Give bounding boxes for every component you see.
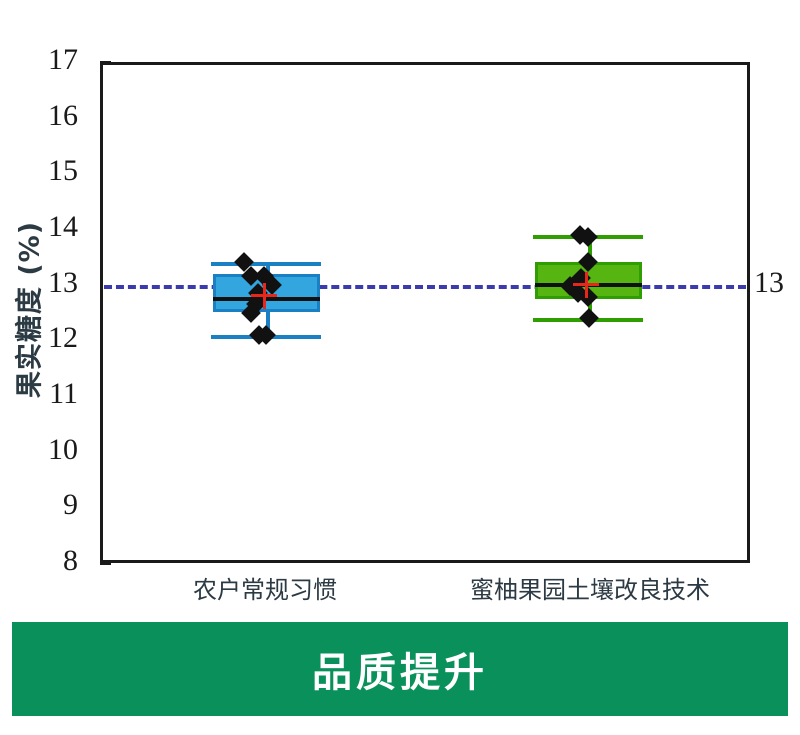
x-axis-label-group-2: 蜜柚果园土壤改良技术 [410, 570, 770, 605]
figure-root: 果实糖度 (%) 891011121314151617 13 农户常规习惯 蜜柚… [0, 0, 800, 735]
data-point [579, 308, 599, 328]
x-axis-label-group-1: 农户常规习惯 [85, 570, 445, 605]
banner-text: 品质提升 [312, 640, 488, 698]
bottom-banner: 品质提升 [12, 622, 788, 716]
